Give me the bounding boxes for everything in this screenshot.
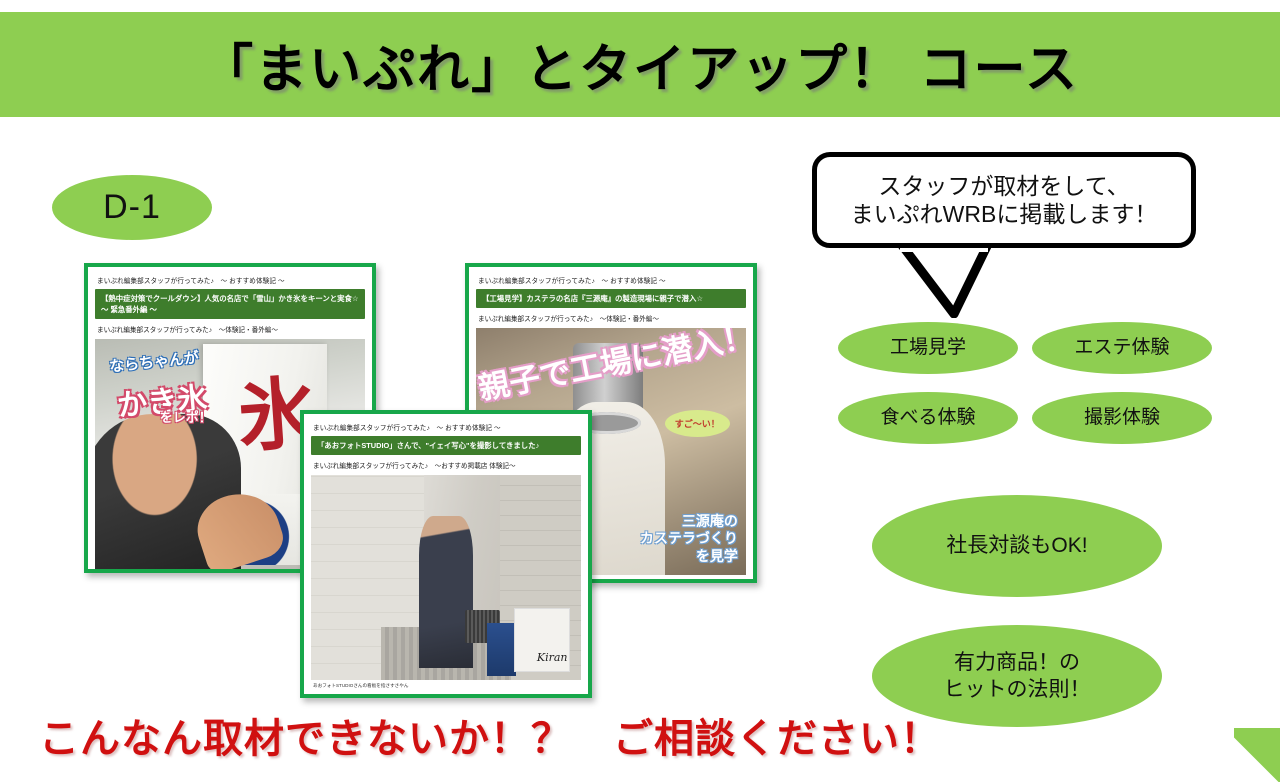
tag-label-line-1: 有力商品！の — [954, 649, 1080, 676]
person-figure-shape — [419, 516, 473, 668]
course-badge: D-1 — [52, 175, 212, 240]
article-card-photo-studio[interactable]: まいぷれ編集部スタッフが行ってみた♪ ～ おすすめ体験記 ～ 「あおフォトSTU… — [300, 410, 592, 698]
tag-ellipse-photo-shoot[interactable]: 撮影体験 — [1032, 392, 1212, 444]
tag-ellipse-factory-tour[interactable]: 工場見学 — [838, 322, 1018, 374]
photo-overlay-line-1: ならちゃんが — [108, 346, 200, 376]
blue-banner-shape — [487, 623, 517, 676]
card-kicker: まいぷれ編集部スタッフが行ってみた♪ ～ おすすめ体験記 ～ — [97, 275, 365, 285]
tag-label: 撮影体験 — [1084, 406, 1160, 431]
tag-label: エステ体験 — [1074, 336, 1169, 361]
card-subtitle: まいぷれ編集部スタッフが行ってみた♪ ～おすすめ掲載店 体験記～ — [313, 460, 581, 470]
slide-root: 「まいぷれ」とタイアップ！ コース D-1 スタッフが取材をして、 まいぷれWR… — [0, 0, 1280, 782]
page-title: 「まいぷれ」とタイアップ！ コース — [201, 27, 1079, 102]
photo-overlay-line-2: カステラづくり — [640, 530, 738, 548]
header-band: 「まいぷれ」とタイアップ！ コース — [0, 12, 1280, 117]
photo-overlay-caption: 三源庵の カステラづくり を見学 — [640, 513, 738, 566]
corner-decoration — [1234, 728, 1280, 782]
tag-ellipse-eating[interactable]: 食べる体験 — [838, 392, 1018, 444]
tag-ellipse-president-interview[interactable]: 社長対談もOK! — [872, 495, 1162, 597]
speech-bubble-line-1: スタッフが取材をして、 — [878, 172, 1129, 200]
card-title: 【熱中症対策でクールダウン】人気の名店で「雪山」かき氷をキーンと実食☆ ～ 緊急… — [95, 289, 365, 319]
card-subtitle: まいぷれ編集部スタッフが行ってみた♪ ～体験記・番外編～ — [97, 324, 365, 334]
card-title: 「あおフォトSTUDIO」さんで、"イェイ写心"を撮影してきました♪ — [311, 436, 581, 455]
card-subtitle: まいぷれ編集部スタッフが行ってみた♪ ～体験記・番外編～ — [478, 313, 746, 323]
course-badge-label: D-1 — [103, 188, 161, 227]
card-kicker: まいぷれ編集部スタッフが行ってみた♪ ～ おすすめ体験記 ～ — [313, 422, 581, 432]
shop-sign-text: Kiran — [537, 651, 568, 664]
tag-ellipse-esthetic[interactable]: エステ体験 — [1032, 322, 1212, 374]
card-title: 【工場見学】カステラの名店『三源庵』の製造現場に親子で潜入☆ — [476, 289, 746, 308]
speech-bubble: スタッフが取材をして、 まいぷれWRBに掲載します！ — [812, 152, 1212, 312]
tag-label-line-1: 社長対談もOK! — [946, 532, 1087, 559]
photo-overlay-line-3: をレポ！ — [160, 407, 212, 426]
footer-callout: こんなん取材できないか！？ ご相談ください！ — [0, 706, 980, 764]
photo-overlay-line-3: を見学 — [640, 548, 738, 566]
tag-label-line-2: ヒットの法則！ — [944, 676, 1091, 703]
tag-label: 工場見学 — [890, 336, 966, 361]
card-kicker: まいぷれ編集部スタッフが行ってみた♪ ～ おすすめ体験記 ～ — [478, 275, 746, 285]
photo-overlay-line-1: 三源庵の — [640, 513, 738, 531]
card-photo: Kiran — [311, 475, 581, 680]
card-photo-caption: あおフォトSTUDIOさんの看板を指さすさやん — [313, 683, 581, 689]
speech-bubble-line-2: まいぷれWRBに掲載します！ — [851, 200, 1158, 228]
tag-label: 食べる体験 — [880, 406, 975, 431]
photo-overlay-bubble: すご～い！ — [665, 410, 730, 437]
speech-bubble-tail-icon — [894, 240, 1014, 318]
